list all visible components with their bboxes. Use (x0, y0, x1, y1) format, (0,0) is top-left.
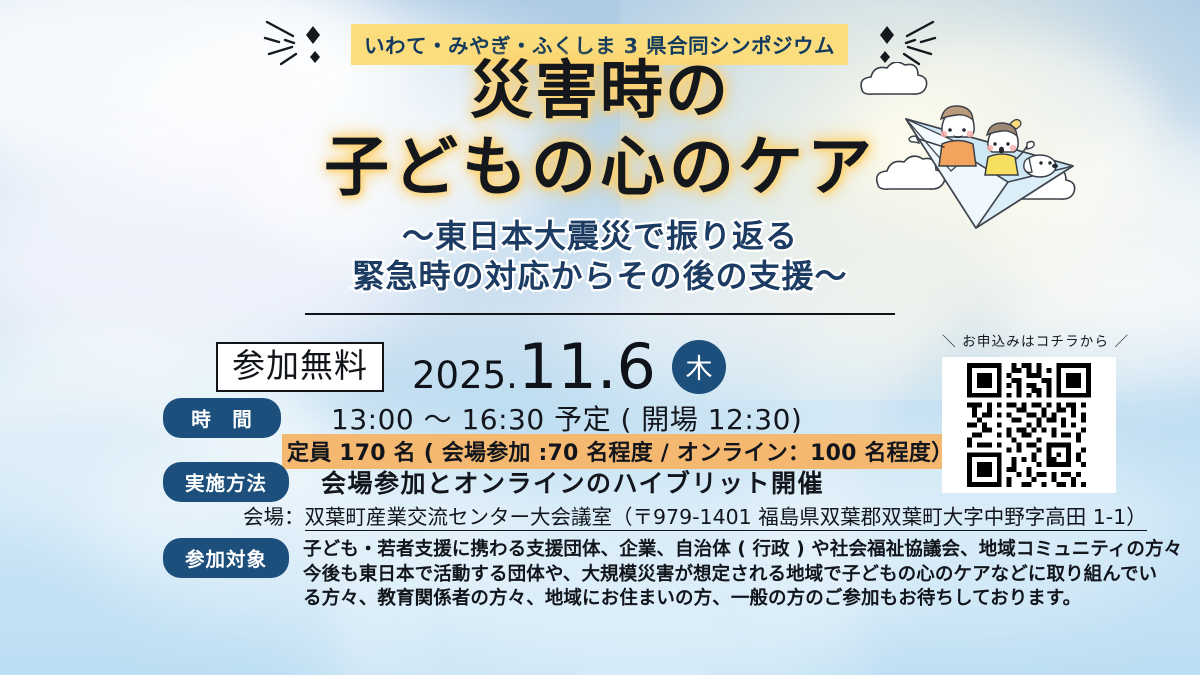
qr-code-icon[interactable] (942, 357, 1116, 493)
page-subtitle: 〜東日本大震災で振り返る 緊急時の対応からその後の支援〜 (0, 216, 1200, 296)
venue-prefix: 会場： (243, 505, 305, 529)
time-label: 時 間 (163, 398, 281, 438)
date-year: 2025. (412, 354, 518, 397)
target-description: 子ども・若者支援に携わる支援団体、企業、自治体 ( 行政 ) や社会福祉協議会、… (303, 538, 1182, 612)
day-of-week-badge: 木 (672, 340, 726, 394)
page-title: 災害時の 子どもの心のケア (0, 52, 1200, 206)
time-row: 時 間 13:00 〜 16:30 予定 ( 開場 12:30) (163, 398, 802, 438)
date-month-day: 11.6 (518, 330, 656, 403)
target-line-3: る方々、教育関係者の方々、地域にお住まいの方、一般の方のご参加もお待ちしておりま… (303, 587, 1182, 612)
event-date: 2025. 11.6 木 (412, 330, 726, 403)
free-admission-badge: 参加無料 (216, 342, 384, 392)
poster-canvas: いわて・みやぎ・ふくしま 3 県合同シンポジウム (0, 0, 1200, 675)
subtitle-line-1: 〜東日本大震災で振り返る (0, 216, 1200, 256)
title-line-1: 災害時の (0, 52, 1200, 129)
title-line-2: 子どもの心のケア (0, 129, 1200, 206)
venue-row: 会場：双葉町産業交流センター大会議室（〒979-1401 福島県双葉郡双葉町大字… (243, 500, 1147, 530)
method-row: 実施方法 会場参加とオンラインのハイブリット開催 (163, 462, 824, 502)
venue-value: 双葉町産業交流センター大会議室（〒979-1401 福島県双葉郡双葉町大字中野字… (305, 505, 1147, 531)
method-label: 実施方法 (163, 462, 289, 502)
target-line-1: 子ども・若者支援に携わる支援団体、企業、自治体 ( 行政 ) や社会福祉協議会、… (303, 538, 1182, 563)
horizontal-divider (305, 313, 895, 315)
target-label: 参加対象 (163, 538, 289, 578)
time-value: 13:00 〜 16:30 予定 ( 開場 12:30) (331, 398, 802, 438)
qr-caption: ＼ お申込みはコチラから ／ (942, 330, 1118, 350)
target-row: 参加対象 子ども・若者支援に携わる支援団体、企業、自治体 ( 行政 ) や社会福… (163, 538, 1182, 612)
method-value: 会場参加とオンラインのハイブリット開催 (321, 464, 824, 500)
date-row: 参加無料 2025. 11.6 木 (216, 330, 726, 403)
subtitle-line-2: 緊急時の対応からその後の支援〜 (0, 256, 1200, 296)
qr-block: ＼ お申込みはコチラから ／ (942, 330, 1118, 493)
target-line-2: 今後も東日本で活動する団体や、大規模災害が想定される地域で子どもの心のケアなどに… (303, 563, 1182, 588)
